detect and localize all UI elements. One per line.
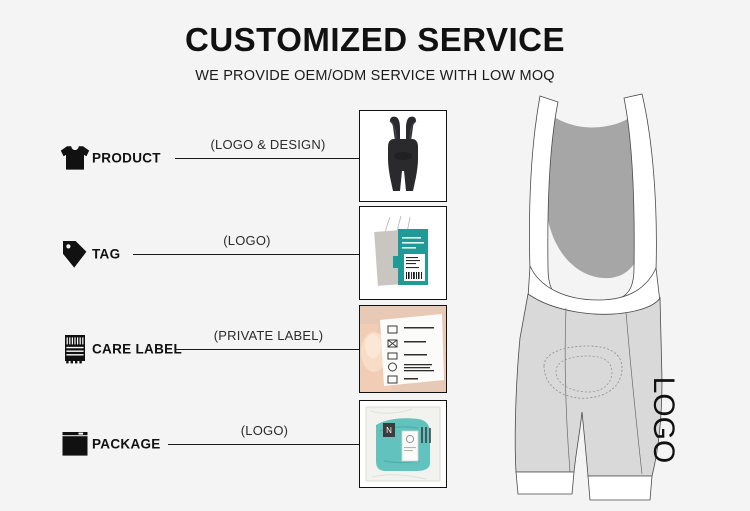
page-title: CUSTOMIZED SERVICE (0, 22, 750, 58)
thumbnail-care-label[interactable] (359, 305, 447, 393)
connector-line-product (175, 158, 361, 159)
tshirt-icon (60, 143, 90, 173)
svg-text:N: N (386, 426, 392, 435)
feature-caption-tag: (LOGO) (133, 233, 361, 248)
feature-caption-care-label: (PRIVATE LABEL) (176, 328, 361, 343)
feature-caption-product: (LOGO & DESIGN) (175, 137, 361, 152)
price-tag-icon (60, 239, 90, 269)
header: CUSTOMIZED SERVICE WE PROVIDE OEM/ODM SE… (0, 22, 750, 84)
thumbnail-product[interactable] (359, 110, 447, 202)
feature-label-care-label: CARE LABEL (92, 342, 182, 357)
customized-service-banner: CUSTOMIZED SERVICE WE PROVIDE OEM/ODM SE… (0, 0, 750, 506)
woven-label-icon (60, 334, 90, 364)
bib-shorts-illustration: LOGO (470, 80, 750, 506)
feature-label-product: PRODUCT (92, 151, 161, 166)
connector-line-tag (133, 254, 361, 255)
feature-label-tag: TAG (92, 247, 120, 262)
box-icon (60, 429, 90, 459)
feature-caption-package: (LOGO) (168, 423, 361, 438)
feature-label-package: PACKAGE (92, 437, 161, 452)
thumbnail-tag[interactable] (359, 206, 447, 300)
thumbnail-package[interactable]: N (359, 400, 447, 488)
connector-line-package (168, 444, 361, 445)
leg-logo-text: LOGO (647, 377, 680, 464)
connector-line-care-label (176, 349, 361, 350)
